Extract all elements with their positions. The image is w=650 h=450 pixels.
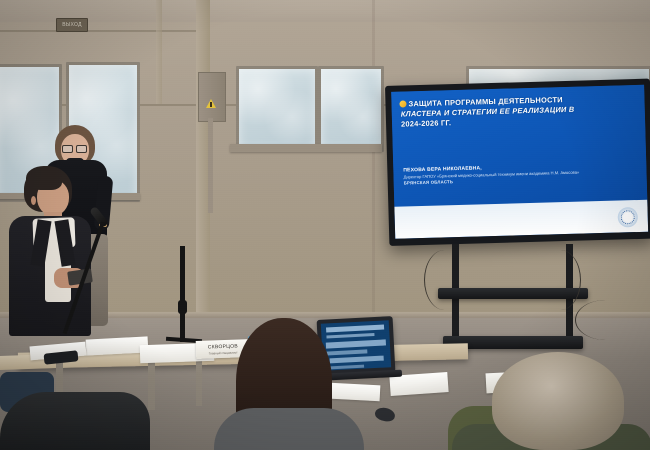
laptop-screen[interactable] <box>321 320 391 370</box>
audience-person-head <box>492 352 624 450</box>
eyeglasses-icon <box>62 145 87 151</box>
microphone-height-clamp <box>178 300 187 314</box>
tv-cable <box>540 250 581 310</box>
wall-column <box>156 0 162 104</box>
photo-scene: ВЫХОД ЗАЩИТА ПРОГРАММЫ ДЕЯТЕЛЬНОСТИ КЛАС… <box>0 0 650 450</box>
table-leg <box>148 362 155 410</box>
exit-sign: ВЫХОД <box>56 18 88 32</box>
ceiling-band <box>0 0 650 22</box>
window-center-right <box>318 66 384 152</box>
microphone-stand-pole <box>180 246 185 342</box>
audience-woman-shoulders <box>214 408 364 450</box>
window-sill <box>230 144 382 152</box>
wall-seam <box>0 30 200 32</box>
speaker-front-fringe <box>26 166 62 190</box>
high-voltage-warning-icon <box>206 99 216 108</box>
paper-sheet <box>330 383 381 402</box>
tv-screen: ЗАЩИТА ПРОГРАММЫ ДЕЯТЕЛЬНОСТИ КЛАСТЕРА И… <box>391 85 648 239</box>
electrical-cabinet <box>198 72 226 122</box>
table-leg <box>196 360 202 406</box>
tv-cable <box>424 250 465 310</box>
placard-subtitle: Главный специалист <box>209 350 238 355</box>
speaker-front-ear <box>31 196 36 205</box>
placard-name: СКВОРЦОВ <box>208 343 238 350</box>
wall-seam <box>372 0 375 330</box>
window-center <box>236 66 318 152</box>
wall-tv-display: ЗАЩИТА ПРОГРАММЫ ДЕЯТЕЛЬНОСТИ КЛАСТЕРА И… <box>385 79 650 246</box>
exit-sign-label: ВЫХОД <box>62 22 82 28</box>
tv-cable <box>575 300 636 340</box>
audience-person-left <box>0 392 150 450</box>
wall-conduit <box>208 118 213 213</box>
